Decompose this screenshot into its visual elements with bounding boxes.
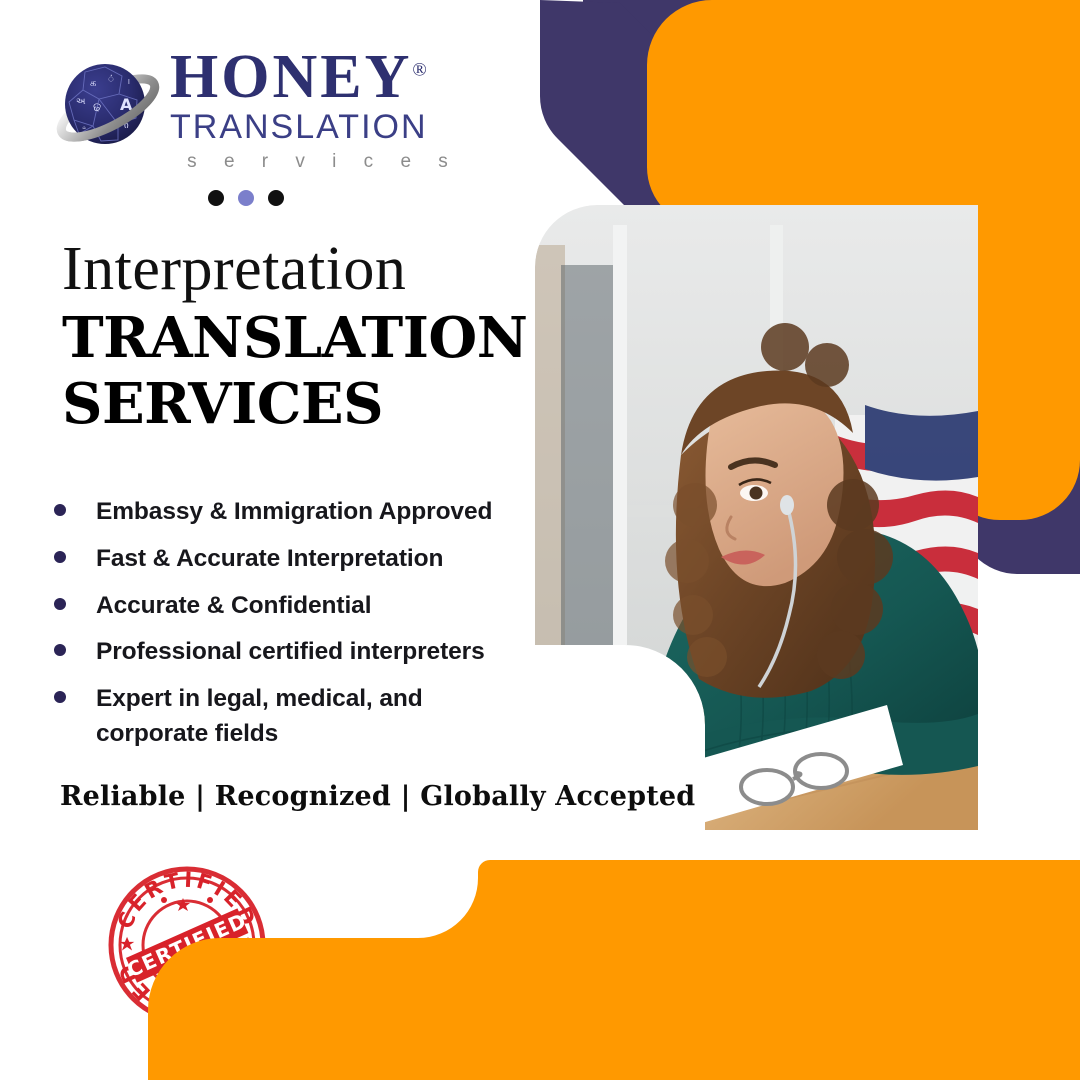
headline-main: TRANSLATION SERVICES: [62, 305, 532, 437]
contact-panel: REACH US: www.honeytranslations.com www.…: [0, 860, 1080, 1080]
logo-subtitle: TRANSLATION: [170, 110, 470, 146]
svg-text:க: க: [90, 78, 96, 89]
feature-text: Accurate & Confidential: [96, 589, 371, 624]
bullet-icon: [54, 551, 66, 563]
feature-list: Embassy & Immigration Approved Fast & Ac…: [54, 495, 524, 764]
headline-script: Interpretation: [62, 238, 406, 300]
list-item: Fast & Accurate Interpretation: [54, 542, 524, 577]
bullet-icon: [54, 504, 66, 516]
logo-tagline: s e r v i c e s: [170, 151, 470, 173]
svg-text:ं: ं: [108, 74, 114, 85]
dot-3: [268, 190, 284, 206]
bullet-icon: [54, 598, 66, 610]
feature-text: Expert in legal, medical, and corporate …: [96, 682, 436, 752]
svg-text:ಀ: ಀ: [82, 121, 86, 132]
globe-languages-icon: க ं । અ ଢ A ಀ ค ი: [52, 52, 162, 162]
feature-text: Fast & Accurate Interpretation: [96, 542, 443, 577]
contact-panel-shape: [0, 860, 1080, 1080]
headline-line-1: TRANSLATION: [62, 305, 532, 371]
svg-text:અ: અ: [76, 97, 86, 107]
list-item: Accurate & Confidential: [54, 589, 524, 624]
list-item: Embassy & Immigration Approved: [54, 495, 524, 530]
headline-line-2: SERVICES: [62, 371, 532, 437]
registered-mark: ®: [412, 59, 426, 80]
dot-1: [208, 190, 224, 206]
list-item: Professional certified interpreters: [54, 635, 524, 670]
feature-text: Professional certified interpreters: [96, 635, 485, 670]
hero-photo: [535, 205, 978, 830]
logo-wordmark: HONEY®: [170, 46, 427, 108]
svg-text:ଢ: ଢ: [93, 100, 101, 114]
logo-dots: [208, 190, 284, 206]
list-item: Expert in legal, medical, and corporate …: [54, 682, 524, 752]
poster-canvas: க ं । અ ଢ A ಀ ค ი HONEY® TRANSLATION s e…: [0, 0, 1080, 1080]
bullet-icon: [54, 691, 66, 703]
feature-text: Embassy & Immigration Approved: [96, 495, 492, 530]
hero-photo-image: [535, 205, 978, 830]
bullet-icon: [54, 644, 66, 656]
dot-2: [238, 190, 254, 206]
svg-text:।: ।: [127, 77, 130, 86]
